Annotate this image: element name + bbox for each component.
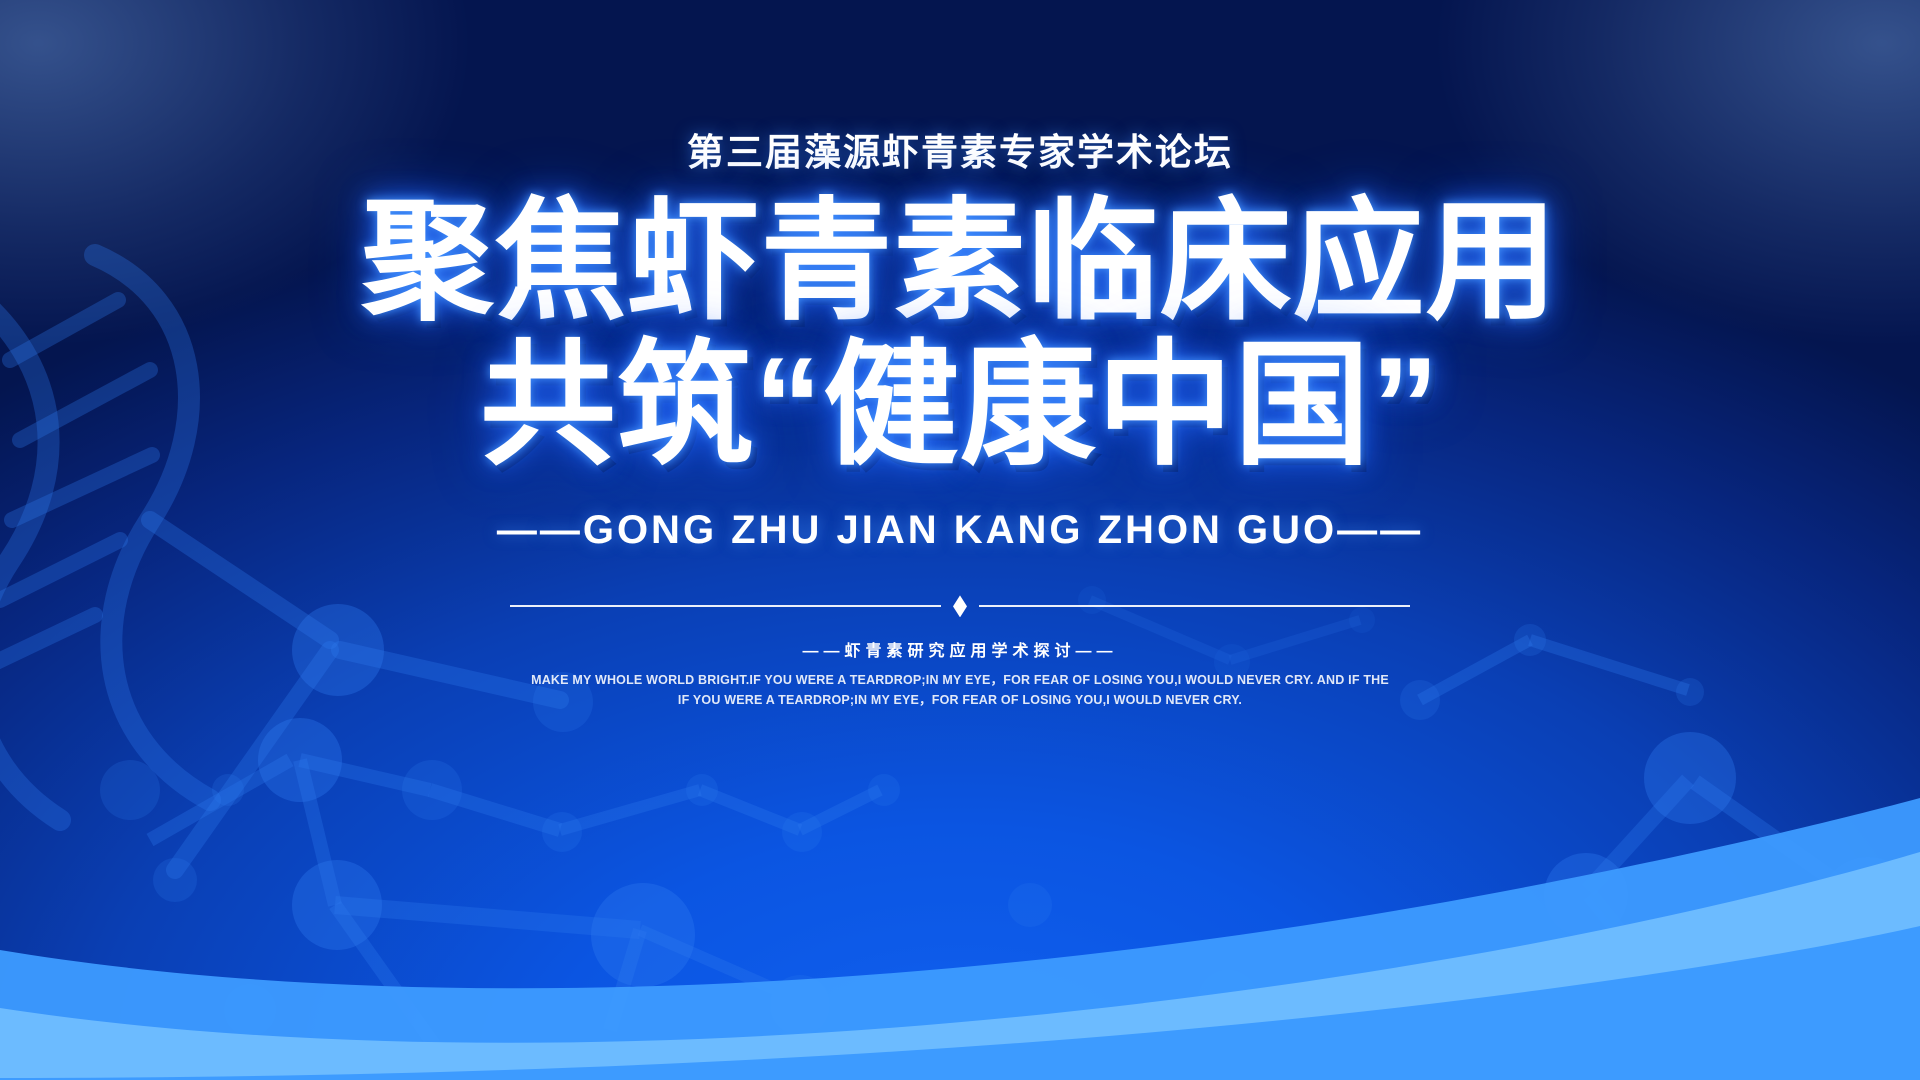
poster-content: 第三届藻源虾青素专家学术论坛 聚焦虾青素临床应用 共筑“健康中国” ——GONG… [0,0,1920,1080]
poster-canvas: 第三届藻源虾青素专家学术论坛 聚焦虾青素临床应用 共筑“健康中国” ——GONG… [0,0,1920,1080]
diamond-icon [953,595,967,617]
fineprint-block: MAKE MY WHOLE WORLD BRIGHT.IF YOU WERE A… [430,671,1490,710]
divider [510,595,1410,617]
fineprint-line-1: MAKE MY WHOLE WORLD BRIGHT.IF YOU WERE A… [430,671,1490,690]
headline-line-1: 聚焦虾青素临床应用 [362,195,1559,330]
headline-line-2: 共筑“健康中国” [362,336,1559,475]
event-eyebrow-title: 第三届藻源虾青素专家学术论坛 [687,134,1233,171]
topic-subtitle: ——虾青素研究应用学术探讨—— [802,637,1117,661]
divider-line-right [979,605,1410,607]
divider-line-left [510,605,941,607]
page-title: 聚焦虾青素临床应用 共筑“健康中国” [362,195,1559,474]
fineprint-line-2: IF YOU WERE A TEARDROP;IN MY EYE，FOR FEA… [430,691,1490,710]
pinyin-subtitle: ——GONG ZHU JIAN KANG ZHON GUO—— [497,508,1423,553]
